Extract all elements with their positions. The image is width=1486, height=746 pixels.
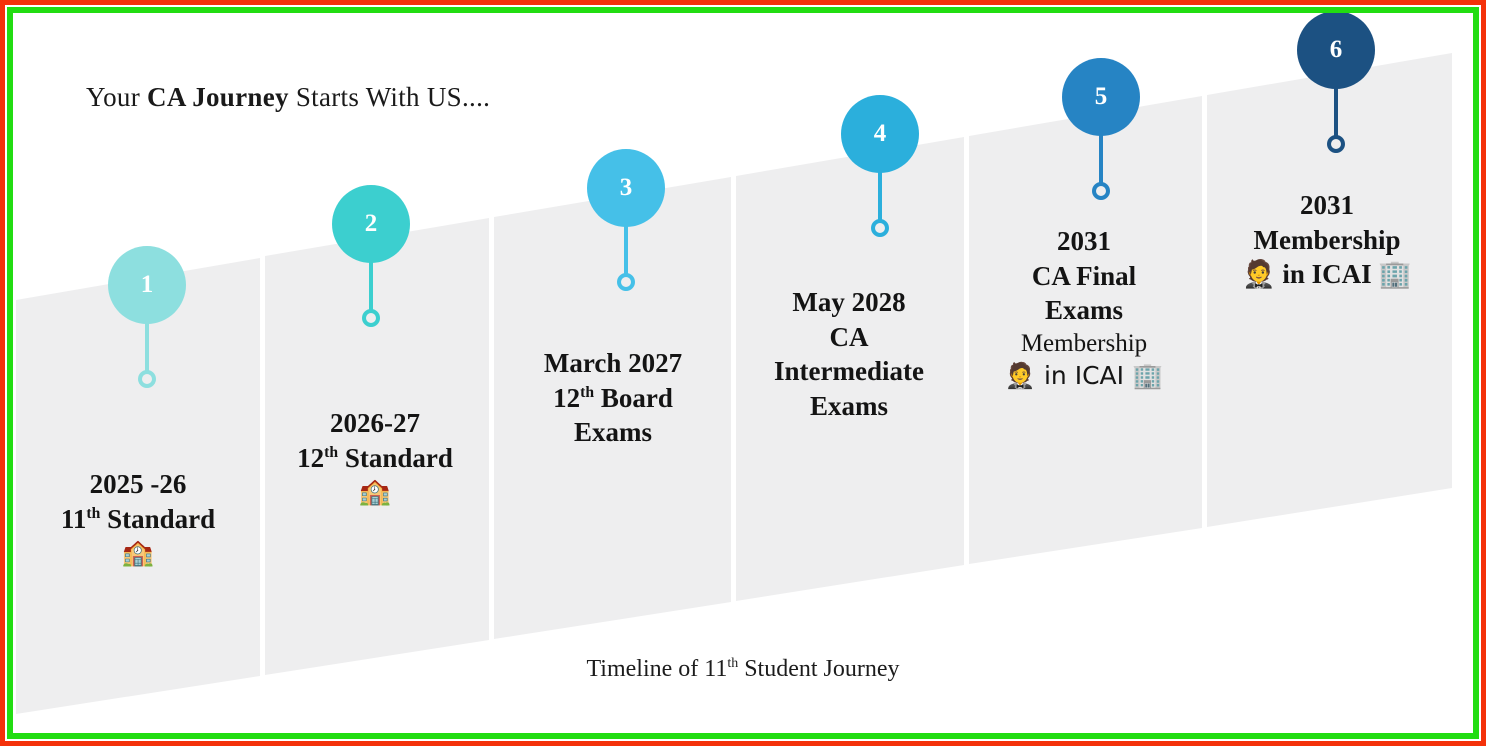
ordinal-suffix: th [86, 505, 100, 522]
step-number-badge: 2 [332, 185, 410, 263]
marker-ring-icon [617, 273, 635, 291]
card-line: 2031 [1147, 188, 1486, 223]
caption-after: Student Journey [738, 656, 899, 682]
card-line: 🤵 in ICAI 🏢 [904, 360, 1264, 392]
caption-before: Timeline of 11 [586, 656, 727, 682]
marker-stem [624, 225, 628, 277]
timeline-card-6: 2031Membership🤵 in ICAI 🏢 [1147, 188, 1486, 292]
headline: Your CA Journey Starts With US.... [86, 82, 490, 113]
card-line: 🤵 in ICAI 🏢 [1147, 257, 1486, 292]
headline-suffix: Starts With US.... [289, 82, 490, 112]
ordinal-suffix: th [580, 384, 594, 401]
card-line: 🏫 [195, 475, 555, 508]
marker-stem [369, 261, 373, 313]
caption-sup: th [727, 656, 738, 671]
marker-stem [878, 171, 882, 223]
timeline-infographic: Your CA Journey Starts With US.... 12345… [0, 0, 1486, 746]
card-line: Membership [1147, 223, 1486, 258]
headline-highlight: CA Journey [147, 82, 289, 112]
card-line: Exams [669, 389, 1029, 424]
marker-stem [1334, 87, 1338, 139]
marker-ring-icon [1092, 182, 1110, 200]
step-number-badge: 1 [108, 246, 186, 324]
marker-ring-icon [1327, 135, 1345, 153]
marker-stem [145, 322, 149, 374]
step-number-badge: 3 [587, 149, 665, 227]
headline-prefix: Your [86, 82, 147, 112]
card-line: Membership [904, 328, 1264, 360]
card-line: 🏫 [0, 536, 318, 569]
marker-ring-icon [138, 370, 156, 388]
step-number-badge: 6 [1297, 11, 1375, 89]
footer-caption: Timeline of 11th Student Journey [0, 656, 1486, 683]
step-number-badge: 5 [1062, 58, 1140, 136]
marker-stem [1099, 134, 1103, 186]
card-line: Exams [904, 293, 1264, 328]
marker-ring-icon [362, 309, 380, 327]
marker-ring-icon [871, 219, 889, 237]
step-number-badge: 4 [841, 95, 919, 173]
ordinal-suffix: th [324, 444, 338, 461]
